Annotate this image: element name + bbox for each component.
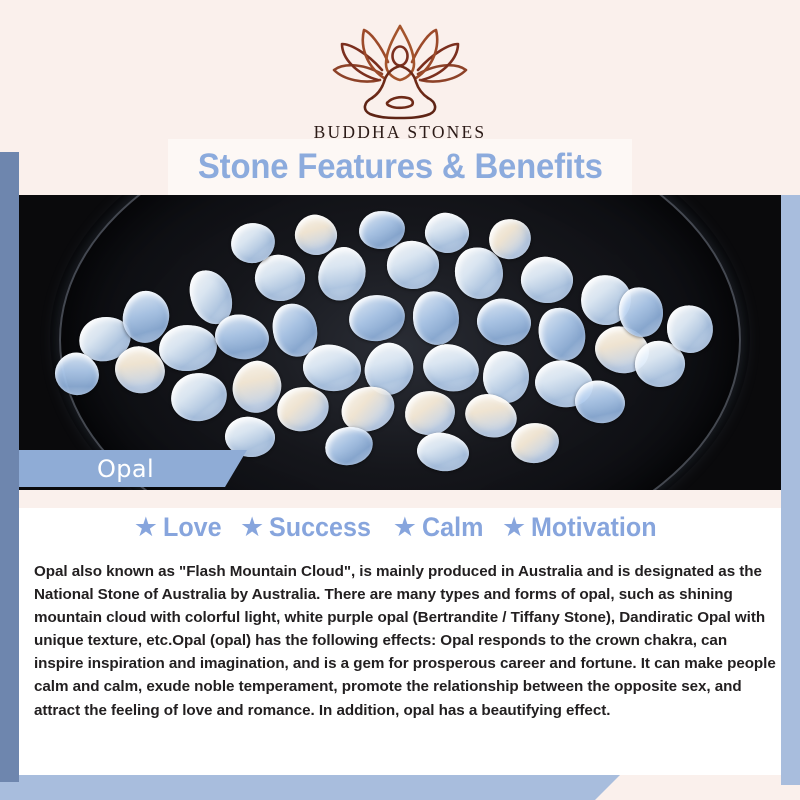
benefit-item-love: ★ Love <box>134 512 226 543</box>
benefit-item-success: ★ Success <box>240 512 379 543</box>
content-panel: ★ Love ★ Success ★ Calm ★ Motivation Opa… <box>19 490 781 775</box>
star-icon: ★ <box>240 514 264 541</box>
benefit-label: Motivation <box>531 512 657 543</box>
benefit-item-calm: ★ Calm <box>393 512 488 543</box>
star-icon: ★ <box>134 514 158 541</box>
hero-image <box>19 195 781 490</box>
brand-logo: BUDDHA STONES <box>0 22 800 143</box>
benefit-item-motivation: ★ Motivation <box>502 512 666 543</box>
title-banner: Stone Features & Benefits <box>168 139 632 195</box>
star-icon: ★ <box>393 514 417 541</box>
panel-top-accent <box>19 490 781 508</box>
opal-stone-cluster <box>19 195 781 490</box>
page-title: Stone Features & Benefits <box>198 147 603 187</box>
stone-name-bar: Opal <box>19 450 247 487</box>
benefit-label: Calm <box>422 512 483 543</box>
stone-name: Opal <box>97 455 154 483</box>
star-icon: ★ <box>502 514 526 541</box>
product-infographic: BUDDHA STONES Stone Features & Benefits <box>0 0 800 800</box>
bottom-accent-shape <box>0 775 620 800</box>
stone-description: Opal also known as "Flash Mountain Cloud… <box>34 560 776 722</box>
benefit-label: Love <box>163 512 222 543</box>
benefits-row: ★ Love ★ Success ★ Calm ★ Motivation <box>19 512 781 543</box>
lotus-meditation-figure-icon <box>322 22 478 120</box>
benefit-label: Success <box>269 512 371 543</box>
left-accent-strip <box>0 152 19 782</box>
